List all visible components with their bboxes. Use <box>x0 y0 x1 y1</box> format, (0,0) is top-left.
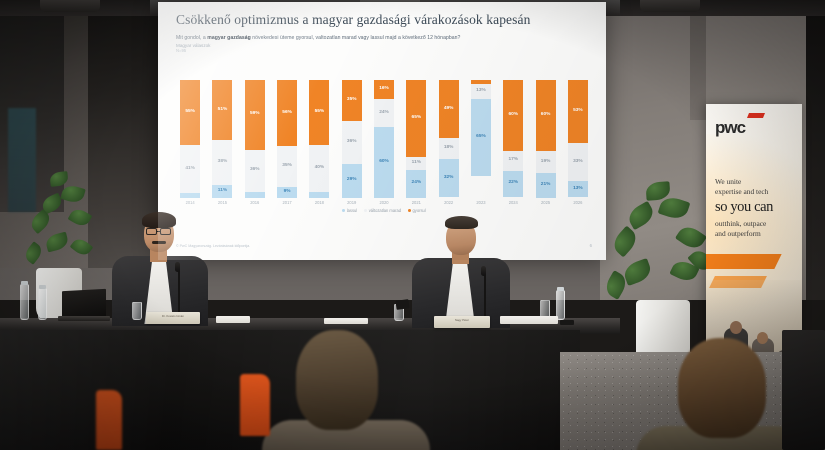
bar-segment-lassul: 21% <box>536 173 556 198</box>
speaker-box <box>782 330 825 450</box>
ceiling-light <box>640 0 700 12</box>
banner-line-3: outthink, outpaceand outperform <box>715 219 766 239</box>
bar-segment-gyorsul: 16% <box>374 80 394 99</box>
glasses-bridge <box>157 231 160 232</box>
slide-subtitle: Mit gondol, a magyar gazdaság növekedesi… <box>176 35 592 41</box>
bar-group: 55%40% <box>303 80 335 198</box>
stacked-bar: 60%17%22% <box>503 80 523 198</box>
subtitle-post: növekedesi üteme gyorsul, valtozatlan ma… <box>251 35 461 41</box>
presenter-hair <box>445 216 478 229</box>
bar-segment-gyorsul: 56% <box>277 80 297 146</box>
x-tick-label: 2022 <box>433 200 465 205</box>
stacked-bar: 65%11%24% <box>406 80 426 198</box>
bar-group: 3%13%65% <box>465 80 497 198</box>
bar-segment-gyorsul: 55% <box>309 80 329 145</box>
slide-sub3: N=95 <box>176 48 592 53</box>
bar-segment-lassul: 11% <box>212 185 232 198</box>
bar-group: 60%17%22% <box>497 80 529 198</box>
bar-segment-lassul <box>180 193 200 198</box>
slide: Csökkenő optimizmus a magyar gazdasági v… <box>158 2 606 260</box>
bar-segment-gyorsul: 35% <box>342 80 362 121</box>
microphone-head-icon <box>481 266 486 276</box>
legend-label: gyorsul <box>413 208 426 213</box>
banner-person-head <box>757 332 768 344</box>
bar-segment-gyorsul: 65% <box>406 80 426 157</box>
presenter-glasses <box>160 228 171 235</box>
laptop-base <box>58 316 110 321</box>
water-bottle <box>20 284 29 320</box>
stacked-bar: 60%19%21% <box>536 80 556 198</box>
x-tick-label: 2019 <box>336 200 368 205</box>
banner-orange-bar <box>706 254 782 269</box>
chart-x-axis: 2014201520162017201820192020202120222023… <box>174 200 594 205</box>
ceiling-light <box>40 0 100 12</box>
x-tick-label: 2026 <box>562 200 594 205</box>
bar-segment-gyorsul: 59% <box>245 80 265 150</box>
bar-segment-gyorsul: 60% <box>503 80 523 151</box>
nameplate-left: Dr. Kovács István <box>146 312 200 324</box>
presenter-moustache <box>152 241 166 244</box>
bar-segment-valtozatlan: 11% <box>406 157 426 170</box>
bar-segment-lassul: 24% <box>406 170 426 198</box>
stacked-bar: 53%33%13% <box>568 80 588 198</box>
bar-segment-lassul: 29% <box>342 164 362 198</box>
bar-segment-gyorsul: 53% <box>568 80 588 143</box>
wall-right-column <box>690 0 706 120</box>
audience-head <box>296 330 378 430</box>
conference-photo: Csökkenő optimizmus a magyar gazdasági v… <box>0 0 825 450</box>
x-tick-label: 2018 <box>303 200 335 205</box>
bar-segment-valtozatlan: 38% <box>212 140 232 185</box>
bar-group: 53%33%13% <box>562 80 594 198</box>
stacked-bar: 55%40% <box>309 80 329 198</box>
pwc-logo: pwc <box>715 118 745 138</box>
bar-segment-valtozatlan: 36% <box>245 150 265 192</box>
water-glass <box>132 302 142 320</box>
bar-segment-lassul <box>245 192 265 198</box>
x-tick-label: 2021 <box>400 200 432 205</box>
paper-sheet <box>500 316 558 324</box>
presenter-glasses <box>146 228 157 235</box>
legend-item: gyorsul <box>408 208 426 213</box>
x-tick-label: 2016 <box>239 200 271 205</box>
chart-bars: 55%41%51%38%11%59%36%56%35%9%55%40%35%36… <box>174 80 594 198</box>
legend-swatch-icon <box>408 209 411 212</box>
bar-segment-lassul <box>309 192 329 198</box>
bar-group: 56%35%9% <box>271 80 303 198</box>
bar-segment-valtozatlan: 19% <box>536 151 556 173</box>
stacked-bar: 56%35%9% <box>277 80 297 198</box>
paper-sheet <box>324 318 368 324</box>
bottle-cap <box>557 287 564 291</box>
pwc-logo-mark-icon <box>747 113 765 118</box>
subtitle-pre: Mit gondol, a <box>176 35 207 41</box>
stacked-bar: 55%41% <box>180 80 200 198</box>
water-bottle <box>38 288 47 320</box>
chair-orange <box>240 374 270 436</box>
bar-group: 51%38%11% <box>206 80 238 198</box>
legend-swatch-icon <box>342 209 345 212</box>
presenter-hair <box>142 212 176 228</box>
bar-segment-valtozatlan: 35% <box>277 146 297 187</box>
banner-headline: so you can <box>715 199 773 216</box>
stacked-bar: 51%38%11% <box>212 80 232 198</box>
stacked-bar: 35%36%29% <box>342 80 362 198</box>
legend-label: változatlan marad <box>369 208 401 213</box>
wall-teal-accent <box>8 108 36 212</box>
audience-head <box>678 338 766 438</box>
bar-segment-valtozatlan: 13% <box>471 84 491 99</box>
bar-group: 59%36% <box>239 80 271 198</box>
stacked-bar: 16%24%60% <box>374 80 394 198</box>
bottle-cap <box>21 281 28 285</box>
bar-segment-gyorsul: 51% <box>212 80 232 140</box>
paper-sheet <box>216 316 250 323</box>
legend-item: változatlan marad <box>364 208 401 213</box>
bar-segment-lassul: 32% <box>439 159 459 197</box>
x-tick-label: 2015 <box>206 200 238 205</box>
bottle-cap <box>39 285 46 289</box>
microphone-head-icon <box>175 262 180 272</box>
banner-person-head <box>730 321 742 334</box>
banner-line-1: We uniteexpertise and tech <box>715 177 768 197</box>
projection-screen: Csökkenő optimizmus a magyar gazdasági v… <box>158 2 606 260</box>
remote-clicker <box>560 320 574 325</box>
stacked-bar: 13%65% <box>471 80 491 198</box>
slide-page-number: 6 <box>590 243 592 248</box>
bar-segment-gyorsul: 55% <box>180 80 200 145</box>
bar-group: 35%36%29% <box>336 80 368 198</box>
bar-segment-lassul: 65% <box>471 99 491 176</box>
chart: 55%41%51%38%11%59%36%56%35%9%55%40%35%36… <box>174 80 594 208</box>
bar-segment-gyorsul: 60% <box>536 80 556 151</box>
stacked-bar: 49%18%32% <box>439 80 459 198</box>
laptop-screen <box>62 289 106 319</box>
bar-segment-valtozatlan: 36% <box>342 121 362 163</box>
wall-right-edge <box>806 0 825 300</box>
bar-group: 49%18%32% <box>433 80 465 198</box>
x-tick-label: 2023 <box>465 200 497 205</box>
bar-group: 60%19%21% <box>529 80 561 198</box>
legend-item: lassul <box>342 208 357 213</box>
bar-segment-valtozatlan: 17% <box>503 151 523 171</box>
chart-legend: lassulváltozatlan maradgyorsul <box>174 208 594 213</box>
bar-group: 55%41% <box>174 80 206 198</box>
x-tick-label: 2017 <box>271 200 303 205</box>
nameplate-right-text: Nagy Péter <box>434 319 490 322</box>
x-tick-label: 2020 <box>368 200 400 205</box>
bar-segment-valtozatlan: 33% <box>568 143 588 182</box>
stacked-bar: 59%36% <box>245 80 265 198</box>
bar-segment-valtozatlan: 24% <box>374 99 394 127</box>
legend-label: lassul <box>347 208 357 213</box>
nameplate-left-text: Dr. Kovács István <box>146 315 200 318</box>
legend-swatch-icon <box>364 209 367 212</box>
bar-segment-lassul: 9% <box>277 187 297 198</box>
bar-segment-gyorsul: 49% <box>439 80 459 138</box>
x-tick-label: 2024 <box>497 200 529 205</box>
subtitle-bold: magyar gazdaság <box>207 35 251 41</box>
nameplate-right: Nagy Péter <box>434 316 490 328</box>
slide-sub2: Magyar válaszok <box>176 43 592 48</box>
smartphone <box>395 299 409 310</box>
chair-orange <box>96 390 122 450</box>
bar-group: 16%24%60% <box>368 80 400 198</box>
bar-group: 65%11%24% <box>400 80 432 198</box>
slide-footer: © PwC Magyarország. Lezárásának időpontj… <box>176 244 250 248</box>
bar-segment-valtozatlan: 40% <box>309 145 329 192</box>
bar-segment-lassul: 22% <box>503 171 523 197</box>
x-tick-label: 2014 <box>174 200 206 205</box>
bar-segment-valtozatlan: 41% <box>180 145 200 193</box>
slide-title: Csökkenő optimizmus a magyar gazdasági v… <box>176 12 592 28</box>
bar-segment-lassul: 13% <box>568 181 588 196</box>
bar-segment-lassul: 60% <box>374 127 394 198</box>
x-tick-label: 2025 <box>529 200 561 205</box>
bar-segment-valtozatlan: 18% <box>439 138 459 159</box>
bar-outside-label: 3% <box>478 79 485 84</box>
